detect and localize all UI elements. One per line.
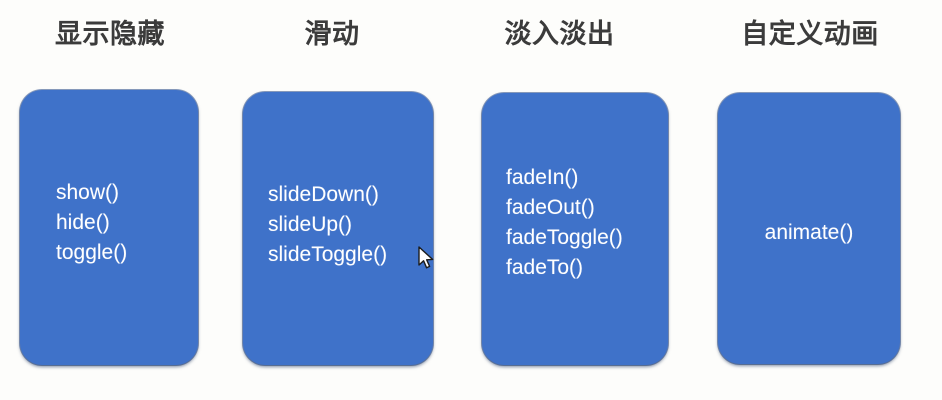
column-header-fade: 淡入淡出 — [452, 18, 667, 50]
column-header-slide: 滑动 — [222, 18, 442, 50]
column-header-show-hide: 显示隐藏 — [0, 18, 220, 50]
column-header-custom-animation: 自定义动画 — [700, 18, 920, 50]
card-fade-methods: fadeIn() fadeOut() fadeToggle() fadeTo() — [482, 163, 668, 283]
card-fade[interactable]: fadeIn() fadeOut() fadeToggle() fadeTo() — [482, 93, 668, 365]
diagram-canvas: 显示隐藏 show() hide() toggle() 滑动 slideDown… — [0, 0, 942, 400]
card-slide-methods: slideDown() slideUp() slideToggle() — [243, 180, 433, 270]
card-custom-animation-methods: animate() — [718, 218, 900, 248]
card-show-hide[interactable]: show() hide() toggle() — [20, 90, 198, 365]
card-show-hide-methods: show() hide() toggle() — [20, 178, 198, 268]
card-custom-animation[interactable]: animate() — [718, 93, 900, 364]
card-slide[interactable]: slideDown() slideUp() slideToggle() — [243, 92, 433, 365]
